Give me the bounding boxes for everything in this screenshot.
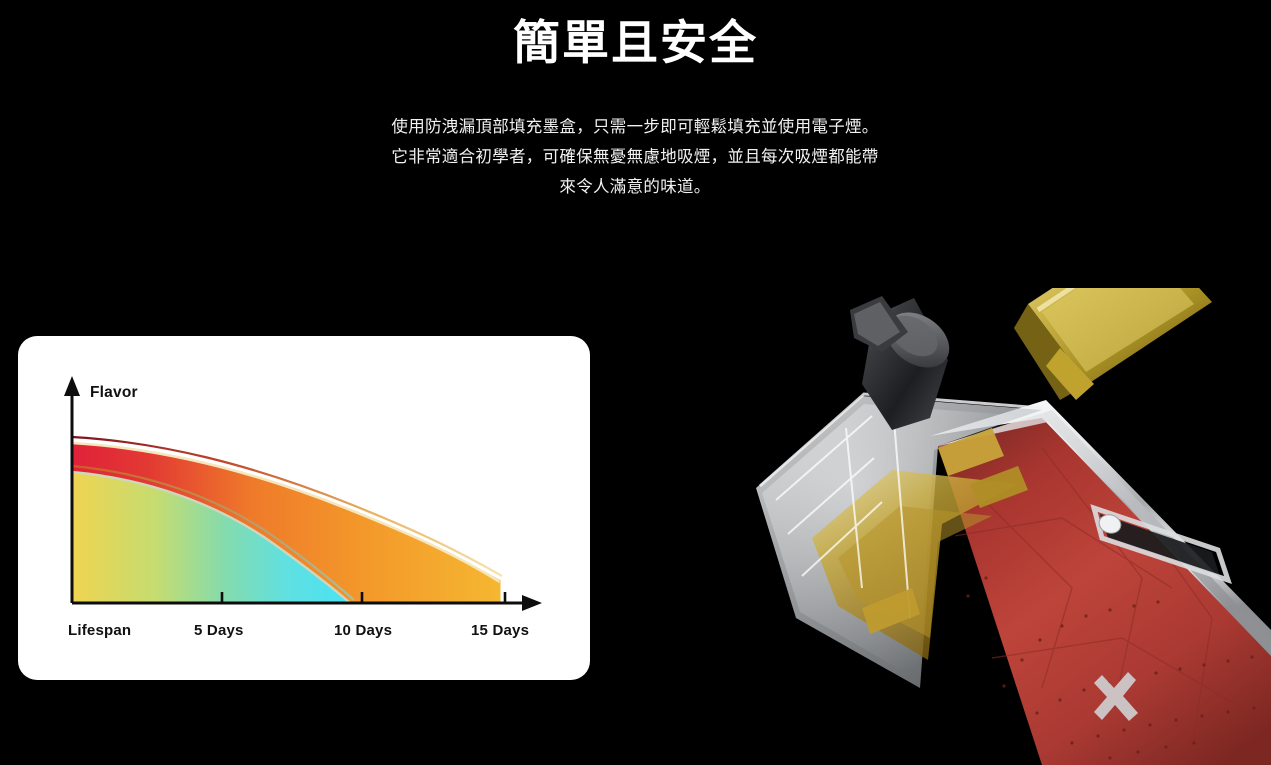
chart-x-tick-label-lifespan: Lifespan — [68, 622, 131, 639]
description-line-1: 使用防洩漏頂部填充墨盒，只需一步即可輕鬆填充並使用電子煙。 — [335, 112, 935, 142]
chart-y-axis-label: Flavor — [90, 384, 138, 402]
description-line-3: 來令人滿意的味道。 — [335, 172, 935, 202]
page-root: 簡單且安全 使用防洩漏頂部填充墨盒，只需一步即可輕鬆填充並使用電子煙。 它非常適… — [0, 0, 1271, 765]
page-description: 使用防洩漏頂部填充墨盒，只需一步即可輕鬆填充並使用電子煙。 它非常適合初學者，可… — [335, 112, 935, 202]
chart-x-tick-label-5-days: 5 Days — [194, 622, 244, 639]
chart-x-tick-label-10-days: 10 Days — [334, 622, 392, 639]
chart-x-tick-label-15-days: 15 Days — [471, 622, 529, 639]
x-axis-arrow-icon — [522, 595, 542, 611]
vape-device-illustration — [742, 288, 1271, 765]
description-line-2: 它非常適合初學者，可確保無憂無慮地吸煙，並且每次吸煙都能帶 — [335, 142, 935, 172]
y-axis-arrow-icon — [64, 376, 80, 396]
product-photo — [742, 288, 1271, 765]
filler-dropper — [1014, 288, 1212, 400]
page-title: 簡單且安全 — [0, 14, 1271, 73]
